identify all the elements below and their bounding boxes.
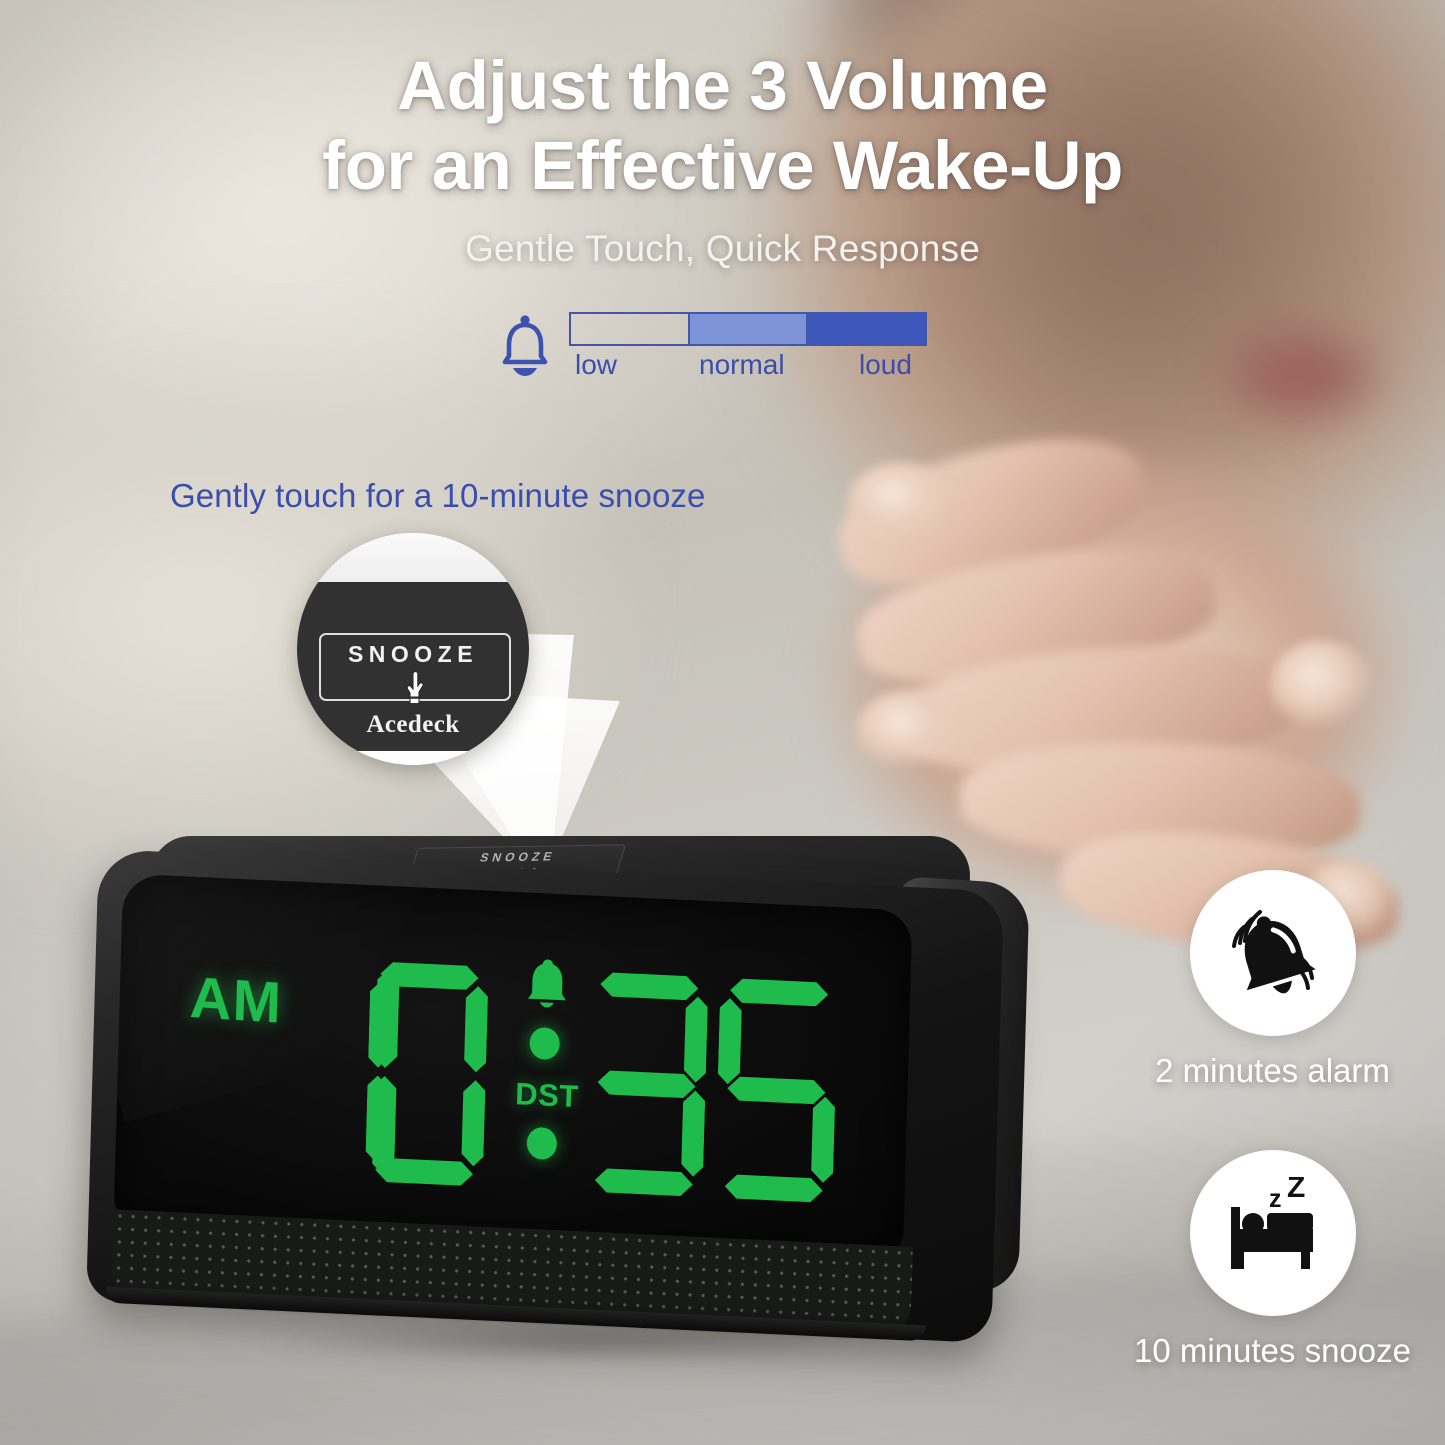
subtitle: Gentle Touch, Quick Response bbox=[0, 228, 1445, 270]
meridiem-indicator: AM bbox=[189, 964, 283, 1037]
volume-segment-loud[interactable] bbox=[808, 314, 925, 344]
display-indicator-column: DST bbox=[506, 958, 583, 1199]
badge-label: 2 minutes alarm bbox=[1100, 1052, 1445, 1090]
volume-segment-normal[interactable] bbox=[690, 314, 809, 344]
brand-name: Acedeck bbox=[297, 711, 529, 739]
magnifier-callout: SNOOZE Acedeck bbox=[297, 533, 529, 765]
badge-circle: z Z bbox=[1190, 1150, 1356, 1316]
bed-sleep-icon: z Z bbox=[1217, 1177, 1329, 1289]
dst-indicator: DST bbox=[515, 1076, 579, 1115]
feature-badge-alarm: 2 minutes alarm bbox=[1100, 870, 1445, 1090]
digit-hour-units bbox=[365, 951, 490, 1194]
svg-text:Z: Z bbox=[1287, 1177, 1305, 1204]
magnifier-highlight bbox=[297, 533, 529, 582]
colon-dot-upper bbox=[529, 1027, 560, 1060]
digit-minute-units bbox=[714, 968, 839, 1211]
alarm-bell-indicator-icon bbox=[526, 959, 569, 1009]
volume-bar[interactable] bbox=[569, 312, 927, 346]
volume-meter: low normal loud bbox=[497, 312, 927, 385]
volume-label-normal: normal bbox=[699, 349, 785, 381]
volume-labels: low normal loud bbox=[569, 349, 927, 385]
pointing-hand-icon bbox=[402, 671, 430, 705]
led-display: AM bbox=[113, 873, 912, 1260]
headline-line-1: Adjust the 3 Volume bbox=[397, 47, 1048, 124]
headline: Adjust the 3 Volume for an Effective Wak… bbox=[0, 46, 1445, 206]
ringing-bell-icon bbox=[1217, 897, 1329, 1009]
svg-text:z: z bbox=[1269, 1185, 1282, 1213]
badge-circle bbox=[1190, 870, 1356, 1036]
colon-dot-lower bbox=[526, 1127, 557, 1160]
alarm-clock-device: SNOOZE Acedeck AM bbox=[92, 836, 1022, 1356]
headline-line-2: for an Effective Wake-Up bbox=[0, 126, 1445, 206]
digit-minute-tens bbox=[584, 962, 709, 1205]
snooze-hint-text: Gently touch for a 10-minute snooze bbox=[170, 477, 705, 515]
badge-label: 10 minutes snooze bbox=[1100, 1332, 1445, 1370]
volume-label-low: low bbox=[575, 349, 617, 381]
feature-badge-snooze: z Z 10 minutes snooze bbox=[1100, 1150, 1445, 1370]
bell-icon bbox=[497, 314, 553, 380]
volume-label-loud: loud bbox=[859, 349, 912, 381]
volume-segment-low[interactable] bbox=[571, 314, 690, 344]
snooze-button-label: SNOOZE bbox=[297, 641, 529, 668]
product-marketing-image: Adjust the 3 Volume for an Effective Wak… bbox=[0, 0, 1445, 1445]
